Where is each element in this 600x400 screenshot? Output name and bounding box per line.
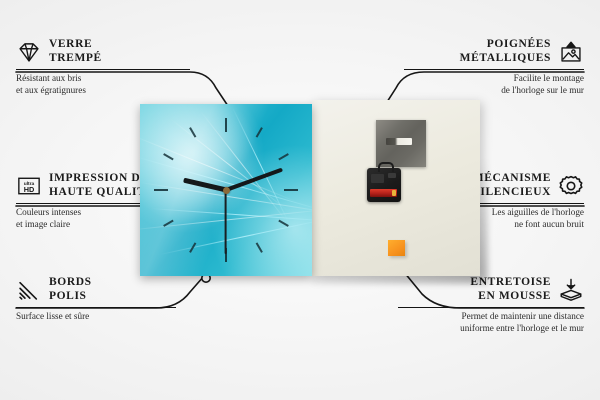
quartz-clock-mechanism bbox=[367, 168, 401, 202]
feature-bords-polis: BORDS POLIS Surface lisse et sûre bbox=[16, 276, 216, 323]
diamond-icon bbox=[16, 39, 42, 65]
feature-poignees-metalliques: POIGNÉES MÉTALLIQUES Facilite le montage… bbox=[384, 38, 584, 96]
arrow-onto-foam-icon bbox=[558, 277, 584, 303]
clock-tick bbox=[225, 118, 227, 190]
feature-rule bbox=[398, 307, 584, 308]
feature-description: Permet de maintenir une distance uniform… bbox=[384, 311, 584, 334]
feature-header: POIGNÉES MÉTALLIQUES bbox=[384, 38, 584, 65]
feature-title: IMPRESSION DE HAUTE QUALITÉ bbox=[49, 172, 154, 199]
feature-header: VERRE TREMPÉ bbox=[16, 38, 216, 65]
aa-battery bbox=[370, 189, 397, 197]
feature-rule bbox=[16, 69, 190, 70]
mechanism-panel-a bbox=[371, 174, 384, 183]
clock-face-panel bbox=[140, 104, 312, 276]
hanger-slot bbox=[386, 138, 412, 145]
feature-verre-trempe: VERRE TREMPÉ Résistant aux bris et aux é… bbox=[16, 38, 216, 96]
mechanism-hanging-loop bbox=[378, 162, 394, 172]
feature-header: BORDS POLIS bbox=[16, 276, 216, 303]
feature-description: Facilite le montage de l'horloge sur le … bbox=[384, 73, 584, 96]
mechanism-panel-b bbox=[388, 173, 396, 178]
diagonal-lines-icon bbox=[16, 277, 42, 303]
orange-foam-spacer bbox=[388, 240, 405, 256]
feature-rule bbox=[16, 307, 176, 308]
battery-positive-tip bbox=[392, 190, 396, 196]
ultra-hd-icon: ultra HD bbox=[16, 173, 42, 199]
clock-back-panel bbox=[312, 100, 480, 276]
clock-tick bbox=[226, 189, 298, 191]
framed-picture-icon bbox=[558, 39, 584, 65]
clock-center-cap bbox=[223, 187, 230, 194]
infographic-canvas: VERRE TREMPÉ Résistant aux bris et aux é… bbox=[0, 0, 600, 400]
feature-entretoise-en-mousse: ENTRETOISE EN MOUSSE Permet de maintenir… bbox=[384, 276, 584, 334]
second-hand bbox=[225, 190, 227, 254]
gear-icon bbox=[558, 173, 584, 199]
feature-description: Résistant aux bris et aux égratignures bbox=[16, 73, 216, 96]
feature-title: VERRE TREMPÉ bbox=[49, 38, 102, 65]
feature-description: Surface lisse et sûre bbox=[16, 311, 216, 322]
metal-hanger-plate bbox=[376, 120, 426, 167]
feature-rule bbox=[404, 69, 584, 70]
feature-title: POIGNÉES MÉTALLIQUES bbox=[460, 38, 551, 65]
feature-title: BORDS POLIS bbox=[49, 276, 92, 303]
svg-text:HD: HD bbox=[24, 185, 35, 194]
